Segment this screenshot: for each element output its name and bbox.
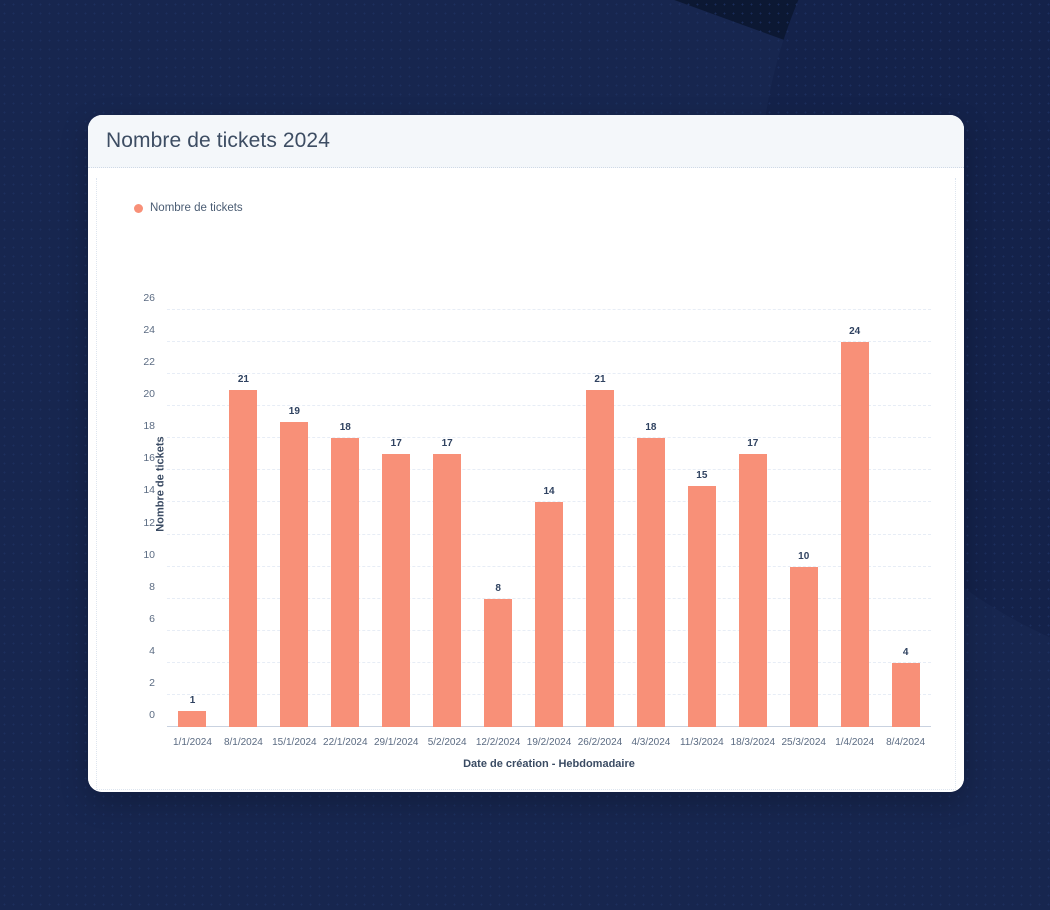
bar-value-label: 1 [190,695,196,706]
bar[interactable]: 24 [841,342,869,727]
x-axis-tick-label: 22/1/2024 [323,737,368,748]
bar[interactable]: 4 [892,663,920,727]
y-axis-tick-label: 26 [143,292,155,304]
bar-slot: 1511/3/2024 [676,310,727,727]
y-axis-tick-label: 16 [143,452,155,464]
screen-root: Nombre de tickets 2024 Nombre de tickets… [0,0,1050,910]
x-axis-tick-label: 12/2/2024 [476,737,521,748]
bar-value-label: 24 [849,326,860,337]
y-axis-tick-label: 10 [143,549,155,561]
y-axis-tick-label: 8 [149,581,155,593]
x-axis-tick-label: 29/1/2024 [374,737,419,748]
bar-value-label: 17 [391,438,402,449]
bar-slot: 2126/2/2024 [575,310,626,727]
bar-slot: 11/1/2024 [167,310,218,727]
bar[interactable]: 8 [484,599,512,727]
x-axis-tick-label: 4/3/2024 [631,737,670,748]
bar-slot: 1915/1/2024 [269,310,320,727]
page-title: Nombre de tickets 2024 [106,129,330,153]
y-axis-tick-label: 12 [143,517,155,529]
bar-slot: 175/2/2024 [422,310,473,727]
x-axis-tick-label: 26/2/2024 [578,737,623,748]
x-axis-tick-label: 15/1/2024 [272,737,317,748]
bar[interactable]: 19 [280,422,308,727]
x-axis-tick-label: 11/3/2024 [680,737,724,748]
bar[interactable]: 17 [433,454,461,727]
bar-value-label: 21 [594,374,605,385]
x-axis-tick-label: 1/1/2024 [173,737,212,748]
bar[interactable]: 15 [688,486,716,727]
x-axis-tick-label: 8/4/2024 [886,737,925,748]
bar-value-label: 14 [543,486,554,497]
bar-slot: 48/4/2024 [880,310,931,727]
bar-series: 11/1/2024218/1/20241915/1/20241822/1/202… [167,310,931,727]
bar-value-label: 21 [238,374,249,385]
y-axis-tick-label: 14 [143,484,155,496]
bar-slot: 218/1/2024 [218,310,269,727]
bar[interactable]: 1 [178,711,206,727]
bar-value-label: 8 [495,583,501,594]
bar-value-label: 10 [798,551,809,562]
bar-slot: 1718/3/2024 [727,310,778,727]
bar[interactable]: 17 [739,454,767,727]
y-axis-tick-label: 0 [149,709,155,721]
bar[interactable]: 10 [790,567,818,727]
bar-value-label: 18 [645,422,656,433]
x-axis-tick-label: 19/2/2024 [527,737,572,748]
bar[interactable]: 21 [586,390,614,727]
bar[interactable]: 21 [229,390,257,727]
bar-slot: 1419/2/2024 [524,310,575,727]
legend-item-label: Nombre de tickets [150,202,243,214]
x-axis-tick-label: 25/3/2024 [781,737,826,748]
bar[interactable]: 17 [382,454,410,727]
plot-area: 26242220181614121086420 11/1/2024218/1/2… [167,310,931,727]
bar[interactable]: 14 [535,502,563,727]
bar[interactable]: 18 [331,438,359,727]
bar-slot: 184/3/2024 [625,310,676,727]
bar-value-label: 18 [340,422,351,433]
y-axis-tick-label: 20 [143,388,155,400]
x-axis-tick-label: 18/3/2024 [731,737,776,748]
chart-body: Nombre de tickets Nombre de tickets 2624… [88,168,964,792]
chart-frame: Nombre de tickets Nombre de tickets 2624… [96,178,956,790]
bar-slot: 812/2/2024 [473,310,524,727]
bar-value-label: 17 [442,438,453,449]
x-axis-tick-label: 1/4/2024 [835,737,874,748]
y-axis-tick-label: 24 [143,324,155,336]
x-axis-tick-label: 8/1/2024 [224,737,263,748]
y-axis-tick-label: 6 [149,613,155,625]
y-axis-tick-label: 22 [143,356,155,368]
bar-value-label: 15 [696,470,707,481]
chart-legend[interactable]: Nombre de tickets [134,202,243,214]
legend-marker-icon [134,204,143,213]
y-axis-tick-label: 2 [149,677,155,689]
x-axis-tick-label: 5/2/2024 [428,737,467,748]
bar-value-label: 19 [289,406,300,417]
bar-value-label: 4 [903,647,909,658]
bar-slot: 1025/3/2024 [778,310,829,727]
x-axis-title: Date de création - Hebdomadaire [167,758,931,770]
bar-slot: 1822/1/2024 [320,310,371,727]
y-axis-tick-label: 18 [143,420,155,432]
y-axis-title: Nombre de tickets [155,436,167,531]
bar-value-label: 17 [747,438,758,449]
bar-slot: 241/4/2024 [829,310,880,727]
bar-slot: 1729/1/2024 [371,310,422,727]
bar[interactable]: 18 [637,438,665,727]
chart-card-header: Nombre de tickets 2024 [88,115,964,168]
y-axis-tick-label: 4 [149,645,155,657]
chart-card: Nombre de tickets 2024 Nombre de tickets… [88,115,964,792]
